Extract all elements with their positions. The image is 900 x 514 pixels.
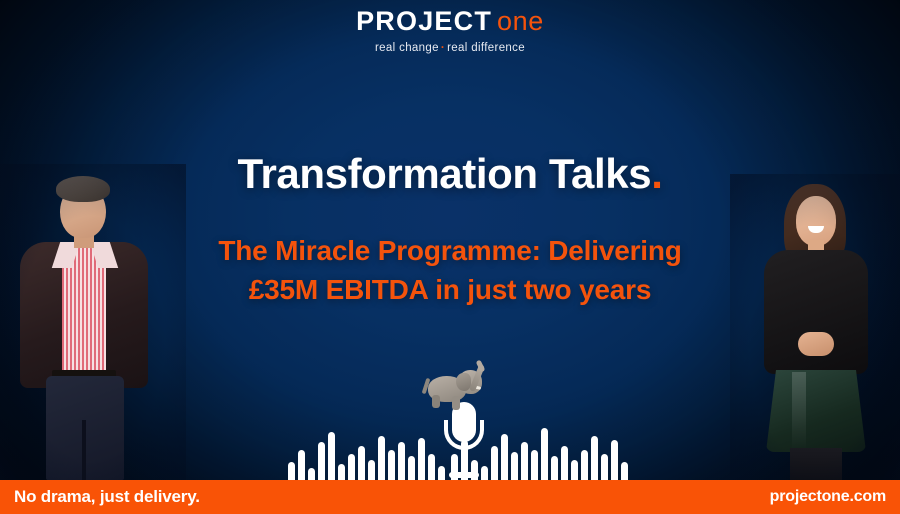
waveform-bar <box>581 450 588 480</box>
elephant-front-leg <box>452 396 460 410</box>
tagline-left-text: real change <box>375 42 439 54</box>
female-skirt-sheen <box>792 372 806 450</box>
microphone-base <box>449 472 479 478</box>
footer-slogan: No drama, just delivery. <box>14 487 200 507</box>
presenter-female-photo <box>740 180 890 480</box>
waveform-bar <box>348 454 355 480</box>
waveform-bar <box>428 454 435 480</box>
waveform-left-group <box>288 416 445 480</box>
logo-secondary-text: one <box>497 6 544 36</box>
waveform-bar <box>591 436 598 480</box>
waveform-bar <box>561 446 568 480</box>
subtitle-line-1: The Miracle Programme: Delivering <box>0 232 900 271</box>
logo-tagline: real change·real difference <box>0 42 900 54</box>
waveform-bar <box>368 460 375 480</box>
waveform-bar <box>531 450 538 480</box>
waveform-bar <box>398 442 405 480</box>
waveform-bar <box>418 438 425 480</box>
waveform-bar <box>378 436 385 480</box>
elephant-back-leg <box>432 395 440 408</box>
waveform-bar <box>521 442 528 480</box>
microphone-stem <box>461 448 467 474</box>
subtitle-line-2: £35M EBITDA in just two years <box>0 271 900 310</box>
waveform-bar <box>318 442 325 480</box>
waveform-bar <box>601 454 608 480</box>
female-green-skirt <box>766 370 866 452</box>
waveform-bar <box>551 456 558 480</box>
headline-text: Transformation Talks <box>238 150 652 197</box>
male-leg-gap <box>82 420 86 480</box>
waveform-bar <box>388 450 395 480</box>
waveform-bar <box>298 450 305 480</box>
footer-bar: No drama, just delivery. projectone.com <box>0 480 900 514</box>
microphone-yoke <box>444 420 484 450</box>
waveform-bar <box>501 434 508 480</box>
waveform-bar <box>308 468 315 480</box>
footer-website-link[interactable]: projectone.com <box>770 488 886 506</box>
logo-wordmark: PROJECTone <box>0 8 900 35</box>
elephant-illustration <box>418 362 490 412</box>
waveform-bar <box>571 460 578 480</box>
female-clasped-hands <box>798 332 834 356</box>
waveform-bar <box>491 446 498 480</box>
tagline-right-text: real difference <box>447 42 525 54</box>
waveform-bar <box>621 462 628 480</box>
headline-period: . <box>651 150 662 197</box>
podcast-promo-graphic: PROJECTone real change·real difference T… <box>0 0 900 514</box>
waveform-bar <box>288 462 295 480</box>
waveform-bar <box>328 432 335 480</box>
episode-subtitle: The Miracle Programme: Delivering £35M E… <box>0 232 900 309</box>
waveform-bar <box>338 464 345 480</box>
waveform-bar <box>541 428 548 480</box>
waveform-bar <box>511 452 518 480</box>
brand-logo: PROJECTone real change·real difference <box>0 8 900 54</box>
presenter-male-photo <box>8 170 176 480</box>
waveform-bar <box>611 440 618 480</box>
waveform-bar <box>408 456 415 480</box>
logo-primary-text: PROJECT <box>356 6 492 36</box>
tagline-separator-dot: · <box>439 42 447 54</box>
page-title: Transformation Talks. <box>0 150 900 198</box>
waveform-bar <box>358 446 365 480</box>
